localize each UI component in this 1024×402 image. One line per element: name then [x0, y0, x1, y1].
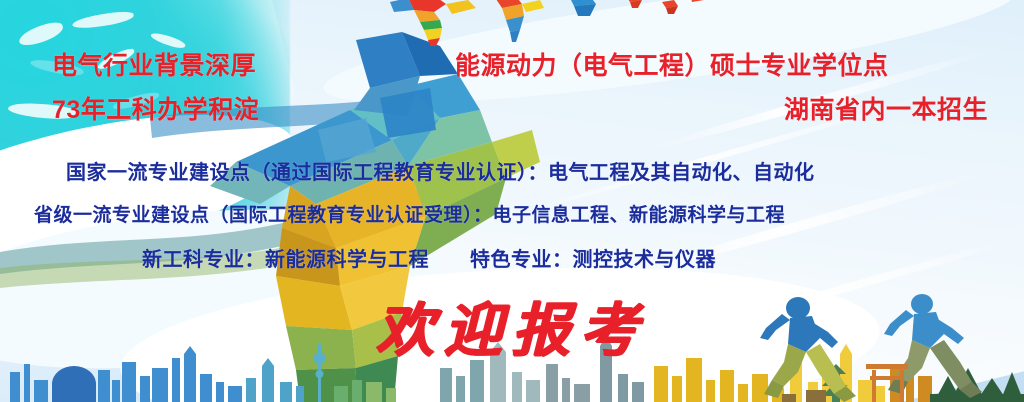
headline-left-line1: 电气行业背景深厚 — [52, 54, 256, 79]
spray-fleck — [5, 171, 72, 193]
top-skier-figures — [390, 0, 710, 46]
welcome-slogan: 欢迎报考 — [376, 283, 648, 367]
cyan-spray-texture — [0, 0, 290, 270]
sky-streak — [705, 236, 1015, 332]
program-line-national-first-class: 国家一流专业建设点（通过国际工程教育专业认证）：电气工程及其自动化、自动化 — [66, 163, 815, 183]
headline-left-line2: 73年工科办学积淀 — [52, 98, 259, 123]
headline-right-line1: 能源动力（电气工程）硕士专业学位点 — [455, 54, 889, 79]
admissions-banner: 电气行业背景深厚 73年工科办学积淀 能源动力（电气工程）硕士专业学位点 湖南省… — [0, 0, 1024, 402]
spray-fleck — [150, 30, 187, 51]
spray-fleck — [50, 138, 109, 154]
spray-fleck — [17, 19, 66, 48]
headline-right-line2: 湖南省内一本招生 — [784, 98, 988, 123]
spray-fleck — [71, 10, 134, 31]
running-athlete-figures — [754, 294, 1024, 402]
program-line-new-engineering-and-featured: 新工科专业：新能源科学与工程 特色专业：测控技术与仪器 — [142, 250, 716, 270]
program-line-provincial-first-class: 省级一流专业建设点（国际工程教育专业认证受理）：电子信息工程、新能源科学与工程 — [34, 206, 785, 225]
